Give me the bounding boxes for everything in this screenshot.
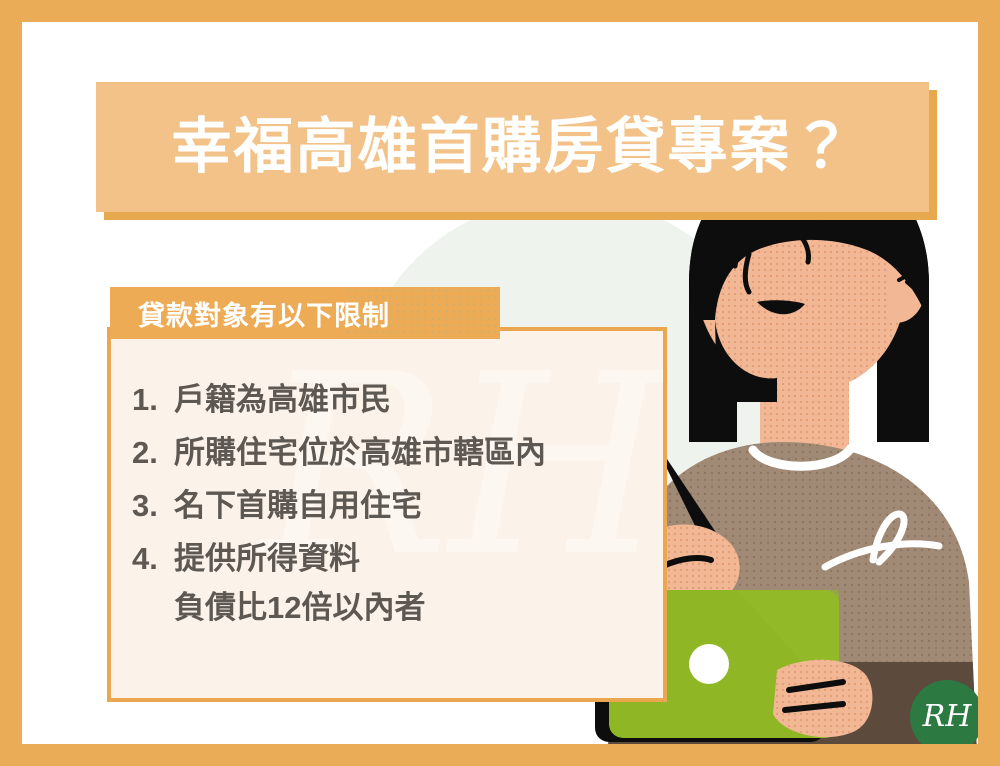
finger-line-1	[789, 682, 843, 690]
poster: 幸福高雄首購房貸專案？ RH 貸款對象有以下限制 1. 戶籍為高雄市民 2. 所…	[0, 0, 1000, 766]
neck	[760, 352, 849, 460]
laptop-logo	[689, 644, 729, 684]
finger-line	[663, 558, 711, 566]
finger-line-2	[785, 704, 843, 710]
collar	[753, 448, 851, 466]
subtitle-banner: 貸款對象有以下限制	[110, 287, 500, 339]
ear	[887, 259, 926, 323]
hair-left-lower	[715, 320, 777, 402]
requirement-list: 1. 戶籍為高雄市民 2. 所購住宅位於高雄市轄區內 3. 名下首購自用住宅 4…	[132, 384, 652, 623]
hand-lower	[773, 660, 872, 737]
brand-logo-text: RH	[923, 702, 972, 732]
mouth	[757, 300, 805, 314]
eyebrow-left	[729, 221, 763, 230]
list-item-number: 2.	[132, 437, 174, 468]
list-item-text: 所購住宅位於高雄市轄區內	[174, 437, 546, 468]
subtitle-text: 貸款對象有以下限制	[138, 294, 390, 333]
title-banner: 幸福高雄首購房貸專案？	[96, 82, 929, 212]
list-item-text: 提供所得資料	[174, 543, 360, 574]
nose	[745, 254, 749, 292]
list-item: 2. 所購住宅位於高雄市轄區內	[132, 437, 652, 468]
ear-detail	[899, 268, 923, 296]
list-item: 1. 戶籍為高雄市民	[132, 384, 652, 415]
list-item-number: 1.	[132, 384, 174, 415]
list-item: 4. 提供所得資料	[132, 543, 652, 574]
list-item-number: 4.	[132, 543, 174, 574]
eye-left	[727, 238, 736, 266]
list-item: 3. 名下首購自用住宅	[132, 490, 652, 521]
brand-logo: RH	[910, 680, 978, 744]
eye-right	[799, 234, 809, 262]
list-item-text: 名下首購自用住宅	[174, 490, 422, 521]
list-item-text: 戶籍為高雄市民	[174, 384, 391, 415]
list-item-continuation: 負債比12倍以內者	[174, 592, 652, 623]
poster-canvas: 幸福高雄首購房貸專案？ RH 貸款對象有以下限制 1. 戶籍為高雄市民 2. 所…	[22, 22, 978, 744]
white-swirl-decoration	[825, 514, 939, 567]
list-item-number: 3.	[132, 490, 174, 521]
page-title: 幸福高雄首購房貸專案？	[172, 117, 854, 177]
